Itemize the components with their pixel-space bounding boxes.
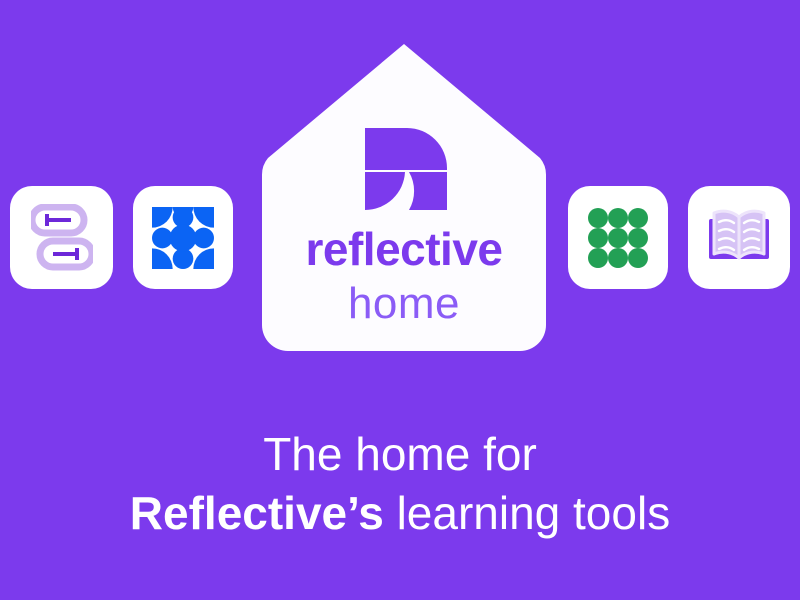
tagline: The home for Reflective’s learning tools (0, 425, 800, 543)
circle-grid-icon (152, 207, 214, 269)
app-tile-circle-grid[interactable] (133, 186, 233, 289)
green-dot-grid-icon (588, 208, 648, 268)
tagline-line-1: The home for (0, 425, 800, 484)
reflective-r-mark (361, 126, 447, 212)
app-tile-stacked-books[interactable] (10, 186, 113, 289)
wordmark-primary: reflective (305, 226, 502, 272)
app-tile-open-book[interactable] (688, 186, 790, 289)
open-book-icon (705, 207, 773, 269)
tagline-brand: Reflective’s (130, 487, 384, 539)
wordmark-secondary: home (348, 282, 460, 326)
tagline-rest: learning tools (384, 487, 670, 539)
promo-banner: reflective home (0, 0, 800, 600)
tagline-line-2: Reflective’s learning tools (0, 484, 800, 543)
reflective-home-logo[interactable]: reflective home (258, 40, 550, 355)
stacked-books-icon (31, 204, 93, 272)
app-tile-dot-grid[interactable] (568, 186, 668, 289)
